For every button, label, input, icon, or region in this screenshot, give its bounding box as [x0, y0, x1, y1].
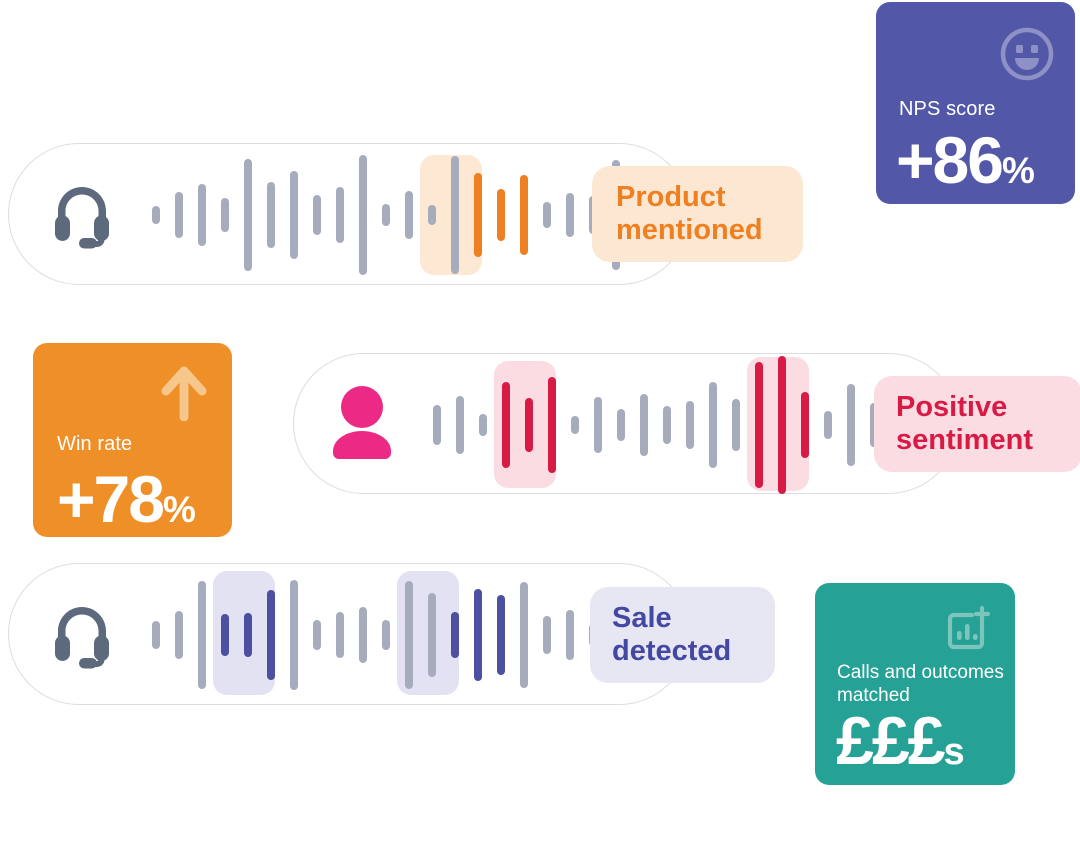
card-value-unit: % [163, 489, 195, 530]
wave-bar [479, 414, 487, 436]
wave-bar [686, 401, 694, 449]
card-label: Win rate [57, 433, 132, 456]
wave-bar [451, 156, 459, 274]
wave-bar [267, 182, 275, 248]
wave-bar [732, 399, 740, 451]
wave-bar [175, 192, 183, 238]
wave-bar [313, 620, 321, 650]
wave-bar-highlighted [474, 589, 482, 681]
infographic-stage: Product mentioned NPS score +86% Win rat… [0, 0, 1080, 850]
wave-bar [244, 159, 252, 271]
card-label-line: Calls and [837, 662, 916, 683]
wave-bar-highlighted [221, 614, 229, 656]
wave-bar [543, 616, 551, 654]
wave-bar-highlighted [474, 173, 482, 257]
wave-bar-highlighted [520, 175, 528, 255]
wave-bar [405, 191, 413, 239]
wave-bar-highlighted [244, 613, 252, 657]
wave-bar [520, 582, 528, 688]
chart-plus-icon [941, 603, 993, 655]
wave-bar [640, 394, 648, 456]
wave-bar [847, 384, 855, 466]
card-value-number: +78 [57, 462, 163, 536]
card-value: +78% [57, 466, 195, 532]
tag-line: sentiment [896, 424, 1033, 457]
wave-bar [433, 405, 441, 445]
wave-bar [175, 611, 183, 659]
wave-bar [336, 612, 344, 658]
card-value: +86% [896, 127, 1034, 193]
wave-bar [663, 406, 671, 444]
card-label: Calls and outcomes matched [837, 661, 1015, 707]
wave-bar-highlighted [548, 377, 556, 473]
wave-bar [824, 411, 832, 439]
wave-bar [456, 396, 464, 454]
waveform-product-mentioned[interactable] [152, 145, 620, 285]
tag-product-mentioned[interactable]: Product mentioned [592, 166, 803, 262]
wave-bar [571, 416, 579, 434]
wave-bar-highlighted [801, 392, 809, 458]
card-label: NPS score [899, 98, 996, 121]
tag-line: Sale [612, 602, 731, 635]
card-value-unit: % [1002, 150, 1034, 191]
wave-bar [382, 204, 390, 226]
wave-bar-highlighted [497, 189, 505, 241]
wave-bar [405, 581, 413, 689]
wave-bar-highlighted [267, 590, 275, 680]
tag-positive-sentiment[interactable]: Positive sentiment [874, 376, 1080, 472]
tag-sale-detected[interactable]: Sale detected [590, 587, 775, 683]
card-win-rate[interactable]: Win rate +78% [33, 343, 232, 537]
waveform-sale-detected[interactable] [152, 565, 597, 705]
wave-bar [313, 195, 321, 235]
tag-line: mentioned [616, 214, 763, 247]
wave-bar [709, 382, 717, 468]
wave-bar [594, 397, 602, 453]
wave-bar [152, 206, 160, 224]
headset-icon [46, 178, 118, 250]
wave-bar [543, 202, 551, 228]
tag-line: detected [612, 635, 731, 668]
wave-bar [290, 171, 298, 259]
wave-bar [152, 621, 160, 649]
wave-bar [336, 187, 344, 243]
card-value-unit: s [943, 731, 963, 773]
card-value-number: +86 [896, 123, 1002, 197]
person-icon [326, 385, 398, 461]
wave-bar [566, 610, 574, 660]
arrow-up-icon [158, 365, 210, 421]
wave-bar [290, 580, 298, 690]
wave-bar-highlighted [451, 612, 459, 658]
wave-bar [428, 205, 436, 225]
wave-bar-highlighted [755, 362, 763, 488]
wave-bar [359, 155, 367, 275]
card-value-number: £££ [836, 703, 943, 779]
wave-bar [566, 193, 574, 237]
tag-line: Positive [896, 391, 1033, 424]
wave-bar [221, 198, 229, 232]
card-nps-score[interactable]: NPS score +86% [876, 2, 1075, 204]
wave-bar-highlighted [502, 382, 510, 468]
card-value: £££s [836, 707, 964, 775]
smiley-face-icon [999, 26, 1055, 82]
waveform-positive-sentiment[interactable] [433, 355, 901, 495]
wave-bar [382, 620, 390, 650]
wave-bar [198, 184, 206, 246]
wave-bar-highlighted [778, 356, 786, 494]
wave-bar-highlighted [525, 398, 533, 452]
wave-bar [617, 409, 625, 441]
wave-bar-highlighted [497, 595, 505, 675]
wave-bar [198, 581, 206, 689]
headset-icon [46, 598, 118, 670]
wave-bar [428, 593, 436, 677]
card-calls-outcomes-matched[interactable]: Calls and outcomes matched £££s [815, 583, 1015, 785]
tag-line: Product [616, 181, 763, 214]
wave-bar [359, 607, 367, 663]
